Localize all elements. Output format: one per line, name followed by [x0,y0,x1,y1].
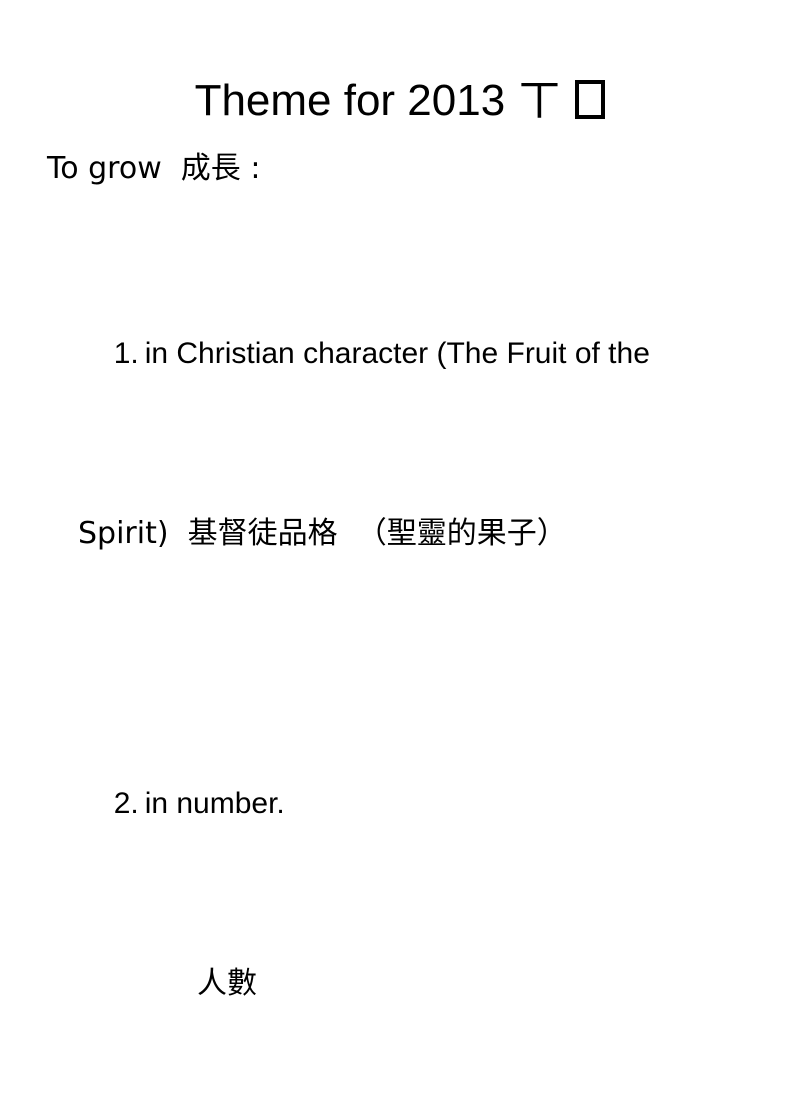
list-item: 2.in number. 人數 [47,646,747,1096]
list-item-text-line1: in Christian character (The Fruit of the [145,337,650,370]
list-item-marker: 2. [114,781,145,826]
slide-title-text: Theme for 2013 [195,76,518,125]
list-item-text-line2: 人數 [47,961,747,1006]
missing-glyph-box-icon [575,80,605,119]
list-item: 1.in Christian character (The Fruit of t… [47,196,747,646]
list-item-marker: 1. [114,331,145,376]
list-item-text-line1: in number. [145,787,285,820]
body-intro-line: To grow 成長 : [47,146,747,191]
presentation-slide: Theme for 2013 ㄒ To grow 成長 : 1.in Chris… [0,0,800,600]
slide-title-bopomofo-glyph: ㄒ [517,75,561,126]
slide-title: Theme for 2013 ㄒ [0,75,800,127]
list-item-text-line2: Spirit) 基督徒品格 （聖靈的果子） [47,511,747,556]
slide-body: To grow 成長 : 1.in Christian character (T… [47,146,747,1096]
